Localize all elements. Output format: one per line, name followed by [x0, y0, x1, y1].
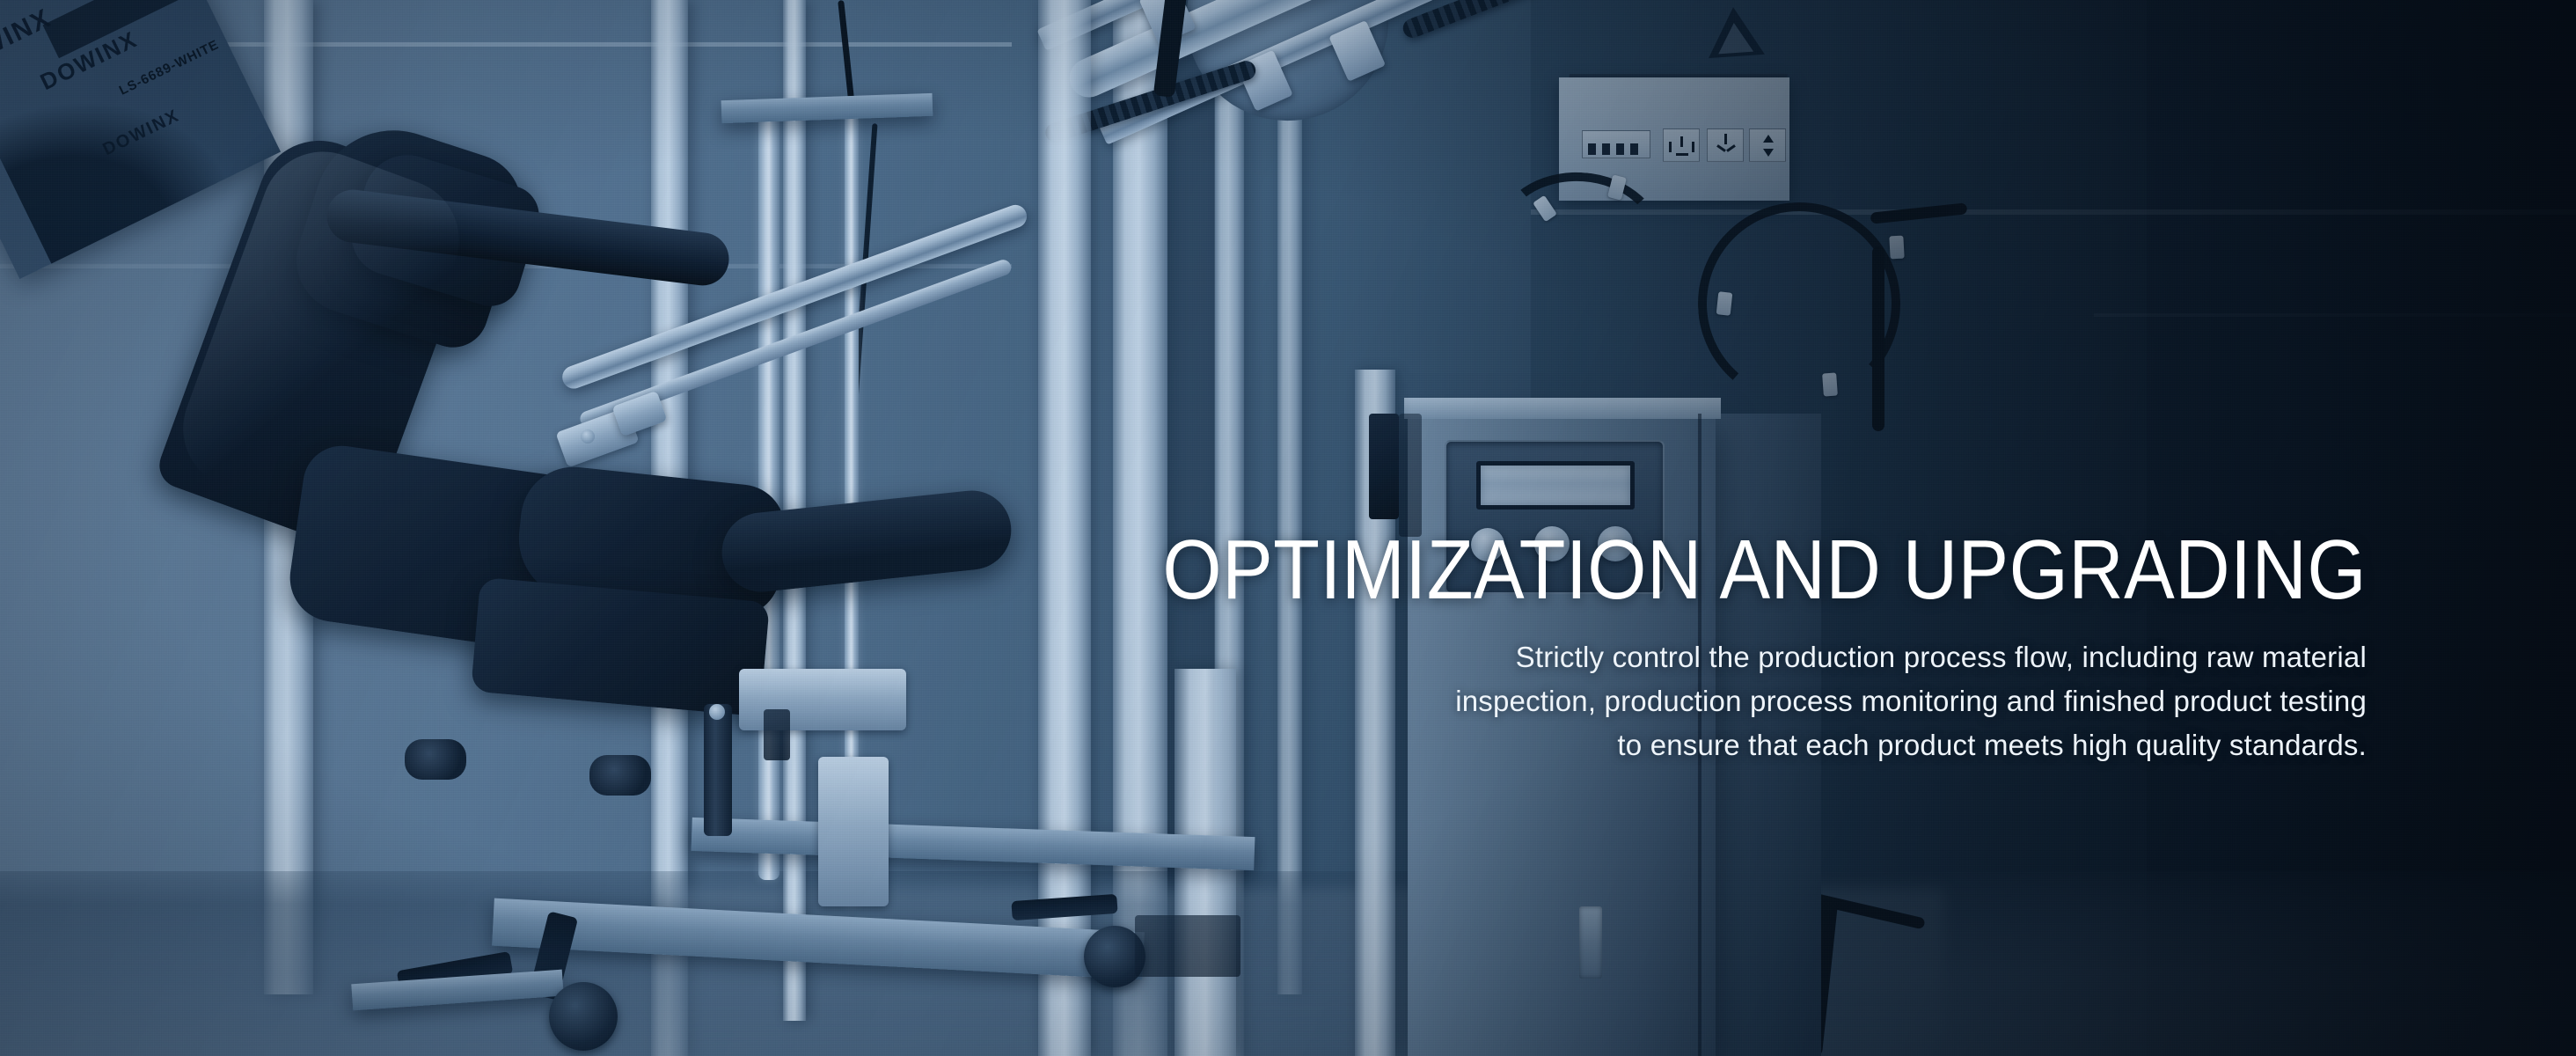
banner-headline: OPTIMIZATION AND UPGRADING: [1131, 528, 2367, 612]
banner-copy: OPTIMIZATION AND UPGRADING Strictly cont…: [994, 528, 2367, 767]
banner-body: Strictly control the production process …: [994, 635, 2367, 767]
banner-body-line-2: inspection, production process monitorin…: [994, 679, 2367, 723]
banner-body-line-1: Strictly control the production process …: [994, 635, 2367, 679]
banner-body-line-3: to ensure that each product meets high q…: [994, 723, 2367, 767]
hero-banner: DOWINX DOWINX DOWINX LS-6689-WHITE: [0, 0, 2576, 1056]
